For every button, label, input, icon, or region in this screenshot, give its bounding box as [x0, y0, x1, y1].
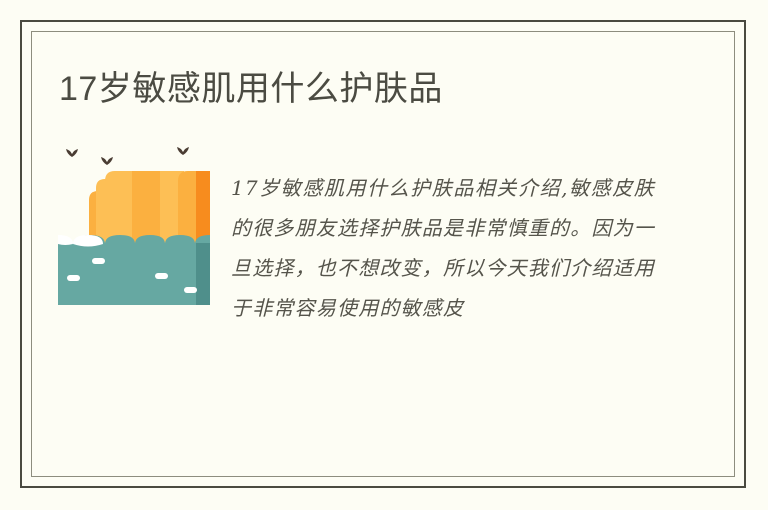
wave-foam	[58, 235, 103, 247]
page-title: 17岁敏感肌用什么护肤品	[59, 66, 443, 112]
article-body: 17岁敏感肌用什么护肤品相关介绍,敏感皮肤的很多朋友选择护肤品是非常慎重的。因为…	[231, 168, 655, 328]
water-dash	[184, 287, 197, 293]
water-shadow	[196, 243, 210, 305]
water-dash	[92, 258, 105, 264]
seaside-cliff-illustration	[58, 140, 210, 305]
water-dash	[67, 275, 80, 281]
article-card: 17岁敏感肌用什么护肤品	[0, 0, 768, 510]
water-body	[58, 243, 210, 305]
water-dash	[155, 273, 168, 279]
